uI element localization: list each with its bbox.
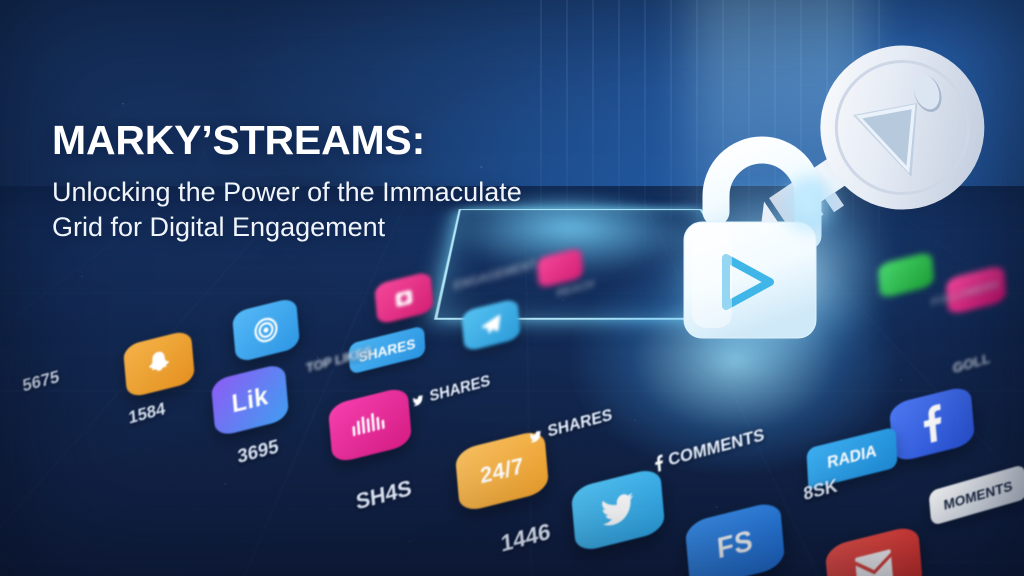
- facebook-tile: [889, 385, 976, 464]
- label-shares-b: SHARES: [528, 407, 613, 448]
- distant-label-smudge-a: ENGAGEMENT: [453, 257, 537, 293]
- radia-chip-label: RADIA: [827, 443, 877, 474]
- lock-and-key-svg: [660, 26, 1024, 386]
- snapchat-tile: [123, 329, 196, 398]
- ghost-icon: [143, 345, 175, 383]
- metric-shas: SH4S: [355, 474, 413, 515]
- label-shares-b-text: SHARES: [547, 407, 613, 442]
- facebook-f-small-icon: [653, 454, 664, 473]
- metric-1446-text: 1446: [500, 517, 552, 558]
- metric-shas-text: SH4S: [355, 474, 413, 515]
- like-tile: Lik: [211, 363, 290, 438]
- telegram-tile: [461, 298, 521, 352]
- envelope-icon: [853, 548, 894, 576]
- camera-icon: [392, 284, 415, 312]
- stream-tile-label: 24/7: [479, 452, 525, 489]
- instagram-tile: [374, 271, 434, 325]
- metric-1584: 1584: [128, 399, 166, 429]
- metric-3695-text: 3695: [237, 436, 280, 469]
- paper-plane-icon: [477, 311, 504, 339]
- like-tile-label: Lik: [230, 381, 269, 419]
- metric-1584-text: 1584: [128, 399, 166, 429]
- gmail-tile: [825, 524, 924, 576]
- bird-icon: [596, 487, 640, 533]
- metric-5675: 5675: [22, 367, 60, 397]
- twitter-bird-small-icon: [411, 392, 426, 408]
- twitter-bird-small-icon: [528, 428, 544, 445]
- moments-chip-label: MOMENTS: [943, 477, 1013, 513]
- label-shares-a: SHARES: [411, 372, 491, 410]
- fs-tile: FS: [685, 500, 786, 576]
- metric-1446: 1446: [500, 517, 552, 558]
- metric-3695: 3695: [237, 436, 280, 469]
- soundcloud-tile: [328, 386, 413, 464]
- fs-tile-label: FS: [716, 524, 755, 565]
- facebook-f-icon: [918, 403, 946, 446]
- twitter-tile: [571, 467, 666, 554]
- page-title: MARKY’STREAMS:: [52, 120, 652, 161]
- subtitle-line-1: Unlocking the Power of the Immaculate: [52, 177, 522, 207]
- periscope-tile: [232, 297, 300, 363]
- label-shares-a-text: SHARES: [429, 372, 491, 405]
- label-comments-text: COMMENTS: [668, 425, 766, 471]
- bars-icon: [349, 407, 390, 443]
- lock-and-key-artwork: [660, 26, 1024, 386]
- metric-5675-text: 5675: [22, 367, 60, 397]
- moments-chip: MOMENTS: [928, 464, 1024, 526]
- hero-banner: Lik 24/7: [0, 0, 1024, 576]
- subtitle-line-2: Grid for Digital Engagement: [52, 212, 385, 242]
- headline-block: MARKY’STREAMS: Unlocking the Power of th…: [52, 120, 652, 244]
- label-comments: COMMENTS: [653, 425, 765, 475]
- target-icon: [251, 312, 281, 347]
- page-subtitle: Unlocking the Power of the Immaculate Gr…: [52, 175, 652, 244]
